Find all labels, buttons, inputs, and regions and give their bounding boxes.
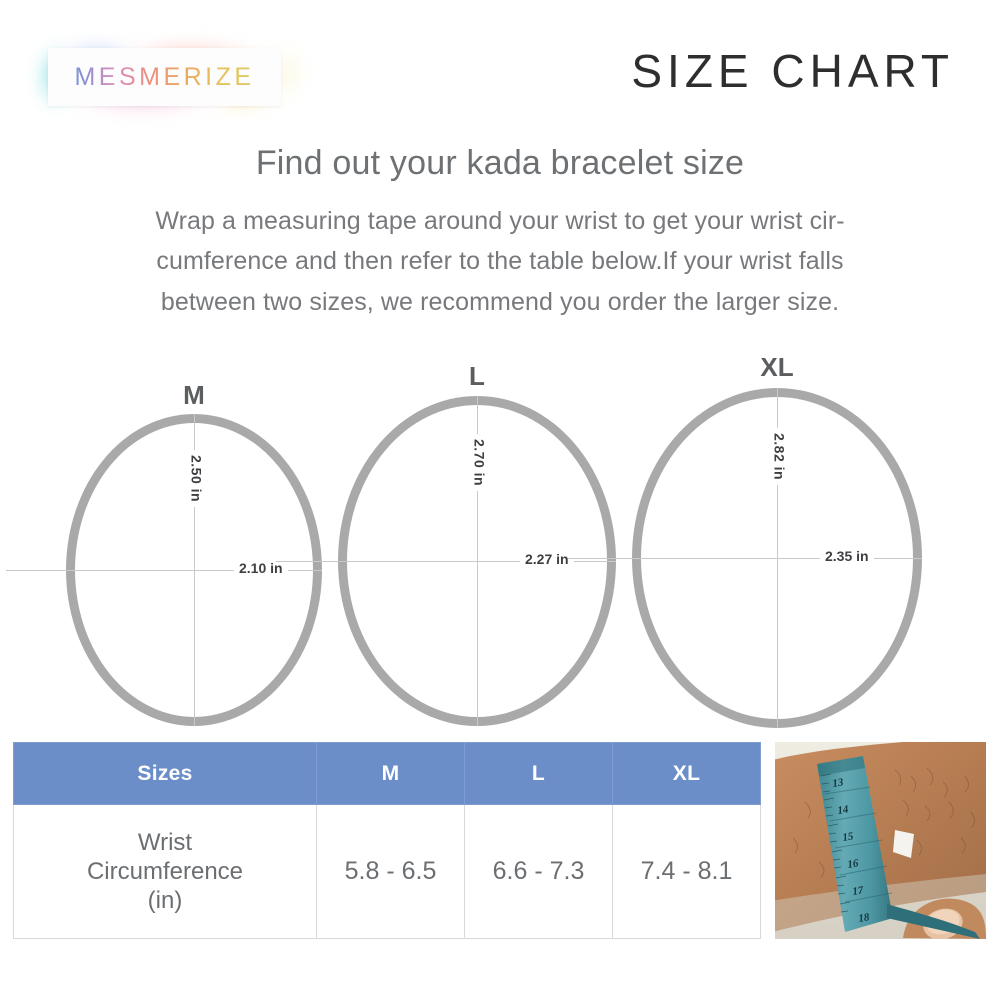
row-label-line-1: Wrist: [14, 828, 316, 857]
oval-label-m: M: [183, 382, 205, 408]
oval-height-label-l: 2.70 in: [471, 434, 486, 491]
table-row: Wrist Circumference (in) 5.8 - 6.5 6.6 -…: [14, 805, 761, 939]
oval-diagram-l: L 2.70 in 2.27 in: [338, 396, 616, 726]
oval-width-label-m: 2.10 in: [234, 561, 288, 576]
table-header-xl: XL: [613, 743, 761, 805]
oval-diagram-xl: XL 2.82 in 2.35 in: [632, 388, 922, 728]
row-label-line-2: Circumference: [14, 857, 316, 886]
size-chart-table: Sizes M L XL Wrist Circumference (in) 5.…: [13, 742, 761, 939]
table-header-sizes: Sizes: [14, 743, 317, 805]
oval-diagram-m: M 2.50 in 2.10 in: [66, 414, 322, 726]
table-header-m: M: [317, 743, 465, 805]
oval-label-xl: XL: [760, 354, 793, 380]
oval-width-label-l: 2.27 in: [520, 552, 574, 567]
oval-label-l: L: [469, 363, 485, 389]
table-header-l: L: [465, 743, 613, 805]
oval-height-label-xl: 2.82 in: [771, 428, 786, 485]
row-label-wrist-circumference: Wrist Circumference (in): [14, 805, 317, 939]
oval-height-label-m: 2.50 in: [188, 450, 203, 507]
wrist-measurement-photo: 13 14 15 16 17 18: [775, 742, 986, 939]
table-header-row: Sizes M L XL: [14, 743, 761, 805]
cell-xl-range: 7.4 - 8.1: [613, 805, 761, 939]
cell-m-range: 5.8 - 6.5: [317, 805, 465, 939]
oval-width-label-xl: 2.35 in: [820, 549, 874, 564]
cell-l-range: 6.6 - 7.3: [465, 805, 613, 939]
row-label-line-3: (in): [14, 886, 316, 915]
